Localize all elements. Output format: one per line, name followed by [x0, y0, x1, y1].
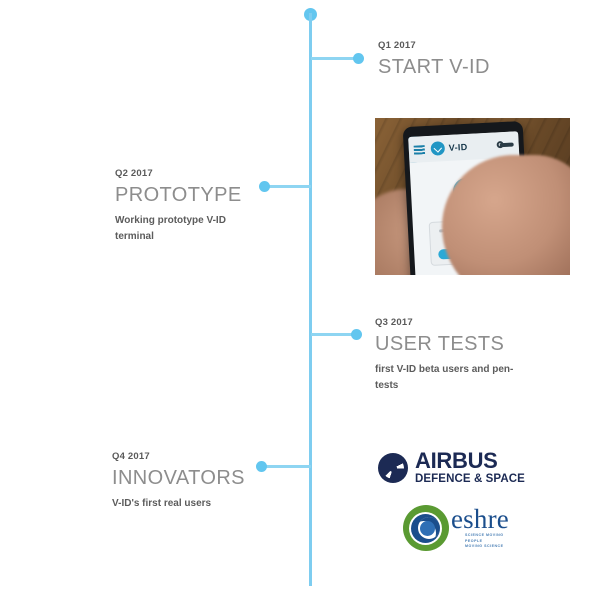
- description-q4: V-ID's first real users: [112, 496, 245, 512]
- key-icon: [500, 142, 514, 147]
- eshre-logo: eshre SCIENCE MOVING PEOPLE MOVING SCIEN…: [403, 505, 509, 551]
- quarter-label-q4: Q4 2017: [112, 451, 245, 463]
- airbus-logo: AIRBUS DEFENCE & SPACE: [378, 450, 525, 486]
- description-q3: first V-ID beta users and pen-tests: [375, 362, 527, 394]
- timeline-entry-q3: Q3 2017 USER TESTS first V-ID beta users…: [375, 317, 527, 394]
- timeline-dot-q4[interactable]: [256, 461, 267, 472]
- quarter-label-q3: Q3 2017: [375, 317, 527, 329]
- eshre-wordmark: eshre SCIENCE MOVING PEOPLE MOVING SCIEN…: [451, 506, 509, 549]
- airbus-subtitle: DEFENCE & SPACE: [415, 474, 525, 486]
- airbus-wordmark: AIRBUS DEFENCE & SPACE: [415, 450, 525, 486]
- headline-q2: PROTOTYPE: [115, 183, 265, 207]
- branch-connector-q1: [311, 57, 359, 60]
- airbus-spiral-icon: [378, 453, 408, 483]
- eshre-swirl-icon: [403, 505, 449, 551]
- branch-connector-q4: [262, 465, 311, 468]
- timeline-dot-q1[interactable]: [353, 53, 364, 64]
- app-name-label: V-ID: [449, 142, 468, 153]
- vid-logo-icon: [430, 141, 445, 156]
- eshre-swirl-core: [420, 521, 435, 536]
- description-q2: Working prototype V-ID terminal: [115, 213, 265, 245]
- eshre-tagline-line-1: SCIENCE MOVING: [465, 533, 509, 538]
- quarter-label-q2: Q2 2017: [115, 168, 265, 180]
- headline-q1: START V-ID: [378, 55, 490, 79]
- airbus-name: AIRBUS: [415, 450, 525, 472]
- timeline-entry-q1: Q1 2017 START V-ID: [378, 40, 490, 79]
- timeline-spine: [309, 13, 312, 586]
- hamburger-menu-icon: [414, 145, 425, 155]
- quarter-label-q1: Q1 2017: [378, 40, 490, 52]
- timeline-dot-q3[interactable]: [351, 329, 362, 340]
- headline-q3: USER TESTS: [375, 332, 527, 356]
- timeline-entry-q4: Q4 2017 INNOVATORS V-ID's first real use…: [112, 451, 245, 512]
- phone-photo: V-ID: [375, 118, 570, 275]
- eshre-tagline-line-3: MOVING SCIENCE: [465, 544, 509, 549]
- headline-q4: INNOVATORS: [112, 466, 245, 490]
- eshre-name: eshre: [451, 506, 509, 532]
- branch-connector-q2: [265, 185, 311, 188]
- timeline-entry-q2: Q2 2017 PROTOTYPE Working prototype V-ID…: [115, 168, 265, 245]
- eshre-tagline: SCIENCE MOVING PEOPLE MOVING SCIENCE: [465, 533, 509, 549]
